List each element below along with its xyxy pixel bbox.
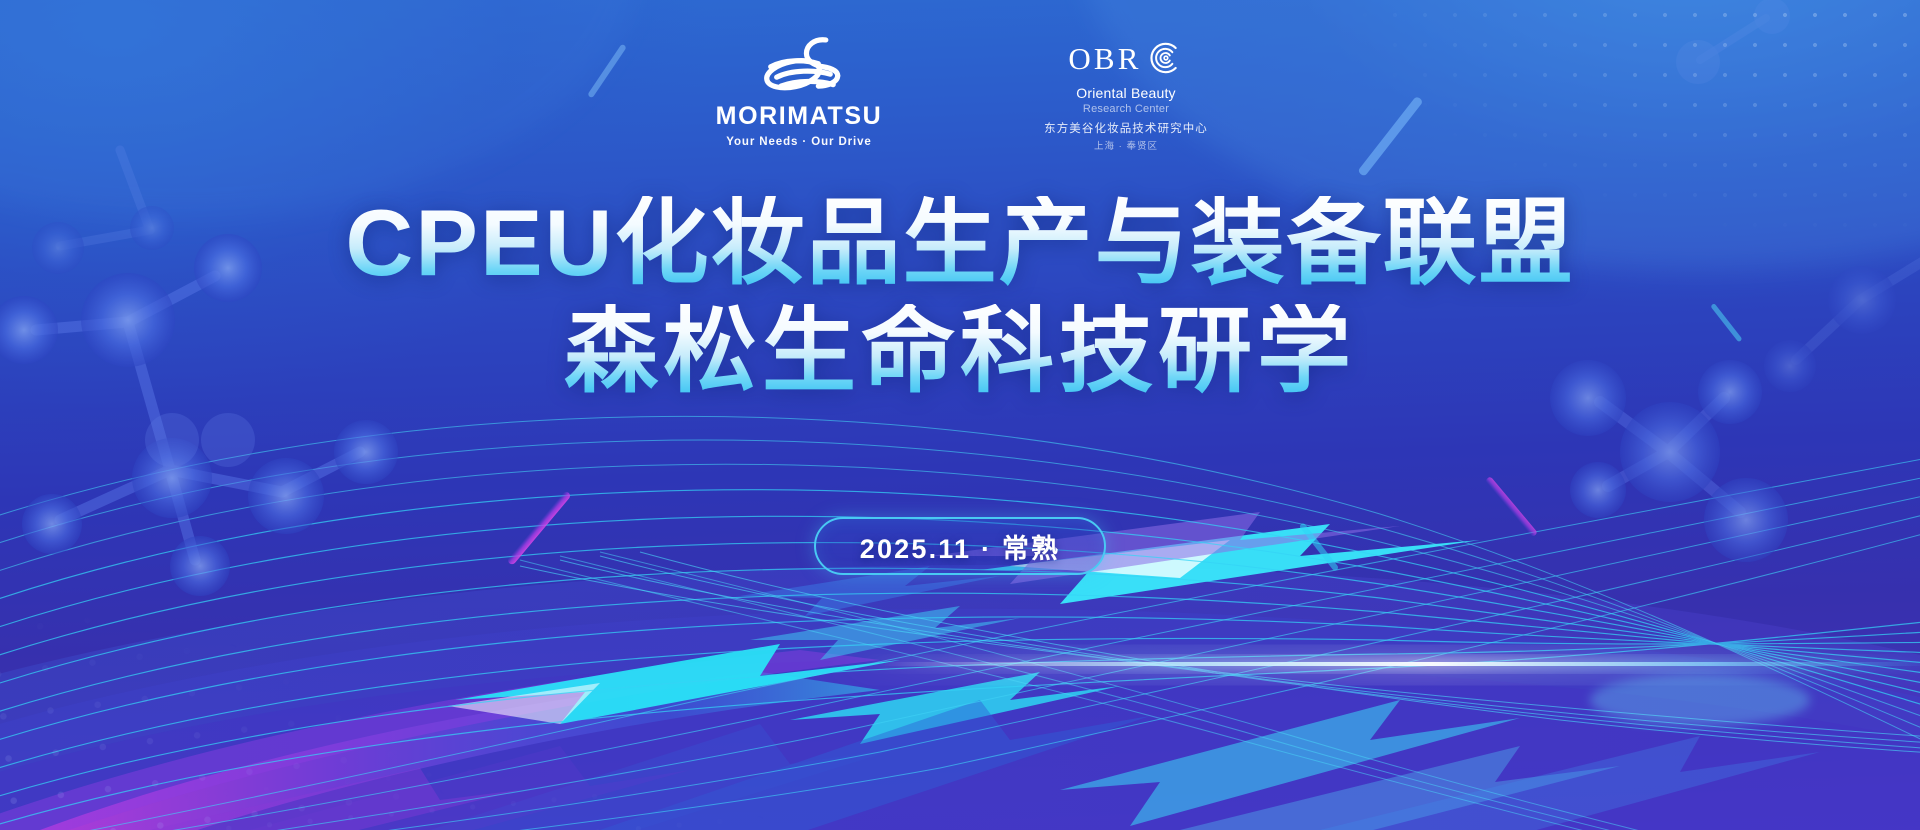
banner-title: CPEU化妆品生产与装备联盟 森松生命科技研学	[0, 196, 1920, 398]
date-location-badge: 2025.11 · 常熟	[814, 517, 1107, 575]
morimatsu-tagline: Your Needs · Our Drive	[726, 136, 871, 148]
title-line-1: CPEU化妆品生产与装备联盟	[0, 196, 1920, 290]
title-line-2: 森松生命科技研学	[0, 304, 1920, 398]
obrc-letters: OBR	[1068, 43, 1141, 74]
obrc-lockup: OBR	[1068, 38, 1183, 78]
morimatsu-wordmark: MORIMATSU	[716, 104, 883, 129]
event-banner: MORIMATSU Your Needs · Our Drive OBR Ori…	[0, 0, 1920, 830]
obrc-english-line2: Research Center	[1083, 103, 1169, 115]
obrc-english-line1: Oriental Beauty	[1076, 85, 1176, 101]
badge-row: 2025.11 · 常熟	[0, 517, 1920, 575]
obrc-logo: OBR Oriental Beauty Research Center 东方美谷…	[1011, 34, 1241, 152]
morimatsu-wave-mark-icon	[753, 34, 845, 98]
logo-row: MORIMATSU Your Needs · Our Drive OBR Ori…	[0, 34, 1920, 152]
obrc-chinese-line1: 东方美谷化妆品技术研究中心	[1044, 120, 1208, 136]
obrc-spiral-c-icon	[1144, 38, 1184, 78]
obrc-chinese-line2: 上海 · 奉贤区	[1094, 138, 1158, 152]
morimatsu-logo: MORIMATSU Your Needs · Our Drive	[679, 34, 919, 148]
